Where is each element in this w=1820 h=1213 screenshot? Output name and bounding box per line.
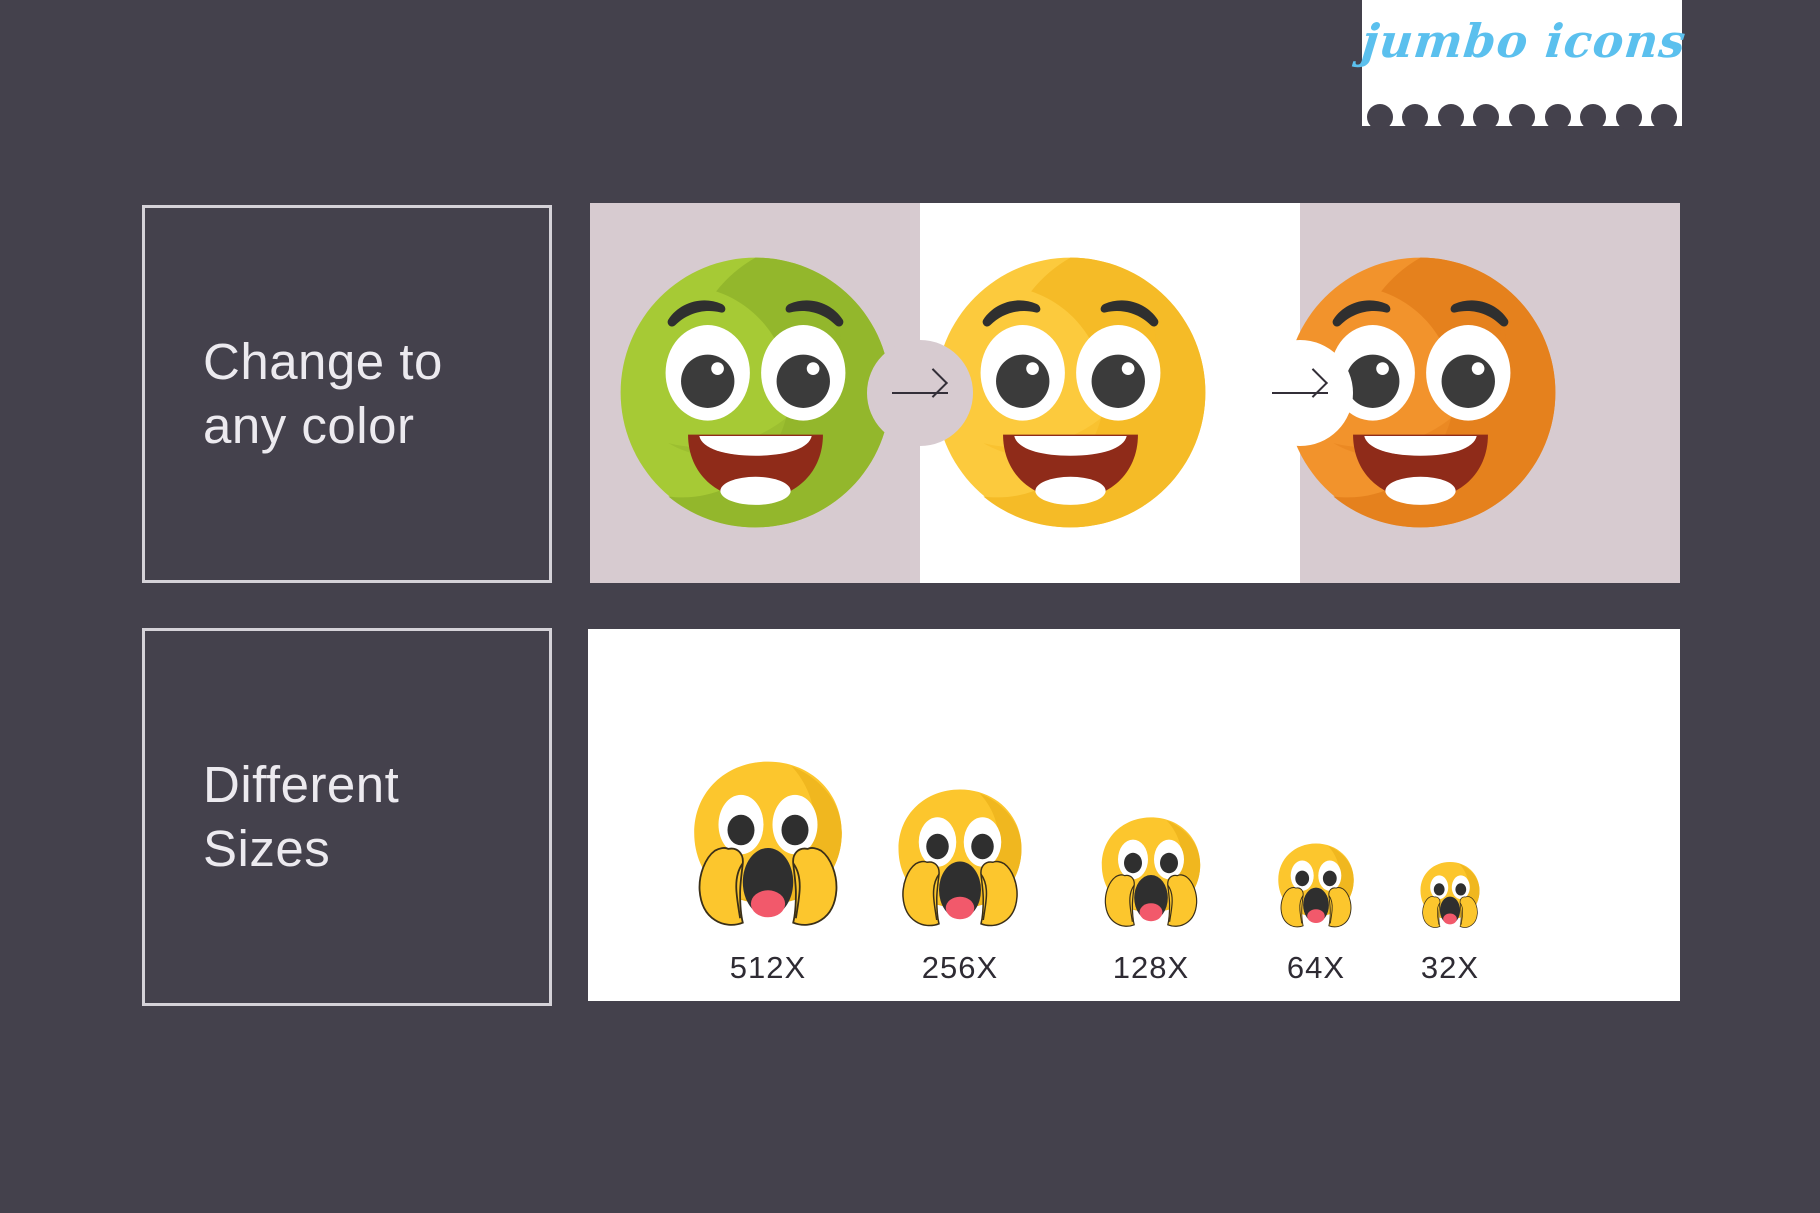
face-screaming-in-fear-icon	[678, 749, 858, 929]
size-variant-item[interactable]: 512X	[658, 739, 878, 997]
scalloped-edge-decoration	[1362, 104, 1682, 126]
feature-label-change-color: Change to any color	[145, 330, 443, 459]
size-variant-label: 128X	[1113, 939, 1189, 997]
green-grinning-face-icon	[615, 252, 896, 533]
different-sizes-demo-panel: 512X256X128X64X32X	[588, 629, 1680, 1001]
logo-badge: jumbo icons	[1362, 0, 1682, 126]
size-variant-icon-slot	[658, 739, 878, 929]
color-step-connector-1	[867, 340, 973, 446]
face-screaming-in-fear-icon	[885, 779, 1035, 929]
scallop-notch	[1651, 104, 1677, 130]
size-variant-label: 64X	[1287, 939, 1345, 997]
size-variant-icon-slot	[850, 739, 1070, 929]
feature-label-box-different-sizes: Different Sizes	[142, 628, 552, 1006]
face-screaming-in-fear-icon	[1414, 857, 1486, 929]
feature-label-different-sizes: Different Sizes	[145, 753, 399, 882]
poster-canvas: jumbo icons Change to any color Differen…	[0, 0, 1820, 1213]
scallop-notch	[1580, 104, 1606, 130]
size-variants-row: 512X256X128X64X32X	[588, 629, 1680, 1001]
size-variant-item[interactable]: 32X	[1340, 739, 1560, 997]
size-variant-label: 32X	[1421, 939, 1479, 997]
arrow-right-icon	[892, 392, 948, 394]
size-variant-label: 256X	[922, 939, 998, 997]
scallop-notch	[1438, 104, 1464, 130]
face-screaming-in-fear-icon	[1091, 809, 1211, 929]
scallop-notch	[1509, 104, 1535, 130]
scallop-notch	[1616, 104, 1642, 130]
color-step-connector-2	[1247, 340, 1353, 446]
size-variant-item[interactable]: 256X	[850, 739, 1070, 997]
scallop-notch	[1402, 104, 1428, 130]
feature-label-box-change-color: Change to any color	[142, 205, 552, 583]
scallop-notch	[1367, 104, 1393, 130]
size-variant-icon-slot	[1340, 739, 1560, 929]
scallop-notch	[1473, 104, 1499, 130]
brand-logo-text: jumbo icons	[1359, 14, 1685, 68]
size-variant-label: 512X	[730, 939, 806, 997]
arrow-right-icon	[1272, 392, 1328, 394]
change-color-demo-panel	[590, 203, 1680, 583]
scallop-notch	[1545, 104, 1571, 130]
